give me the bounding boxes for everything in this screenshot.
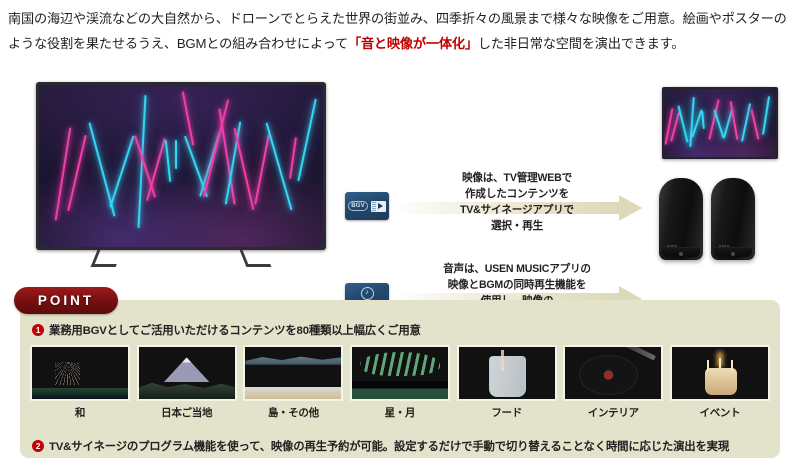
caption-line: TV&サイネージアプリで (398, 202, 636, 218)
thumbnail-caption: 日本ご当地 (137, 405, 237, 420)
list-item[interactable]: 星・月 (350, 345, 450, 425)
content-category-thumbnails: 和 日本ご当地 島・その他 星・月 フード インテリア イベント (30, 345, 770, 425)
intro-text-part2: した非日常な空間を演出できます。 (478, 36, 684, 51)
caption-line: 映像は、TV管理WEBで (398, 170, 636, 186)
list-item[interactable]: フード (457, 345, 557, 425)
caption-line: 選択・再生 (398, 218, 636, 234)
bgv-badge-label: BGV (348, 201, 368, 211)
flow-diagram: BGV ♪ USEN MUSIC 映像は、TV管理WEBで 作成したコンテンツを… (0, 78, 800, 276)
caption-line: 音声は、USEN MUSICアプリの (392, 261, 642, 277)
tv-preview-screen-neon-art (664, 89, 776, 157)
bgv-app-icon[interactable]: BGV (345, 192, 389, 220)
caption-line: 作成したコンテンツを (398, 186, 636, 202)
thumbnail-caption: 島・その他 (243, 405, 343, 420)
tv-stand-legs (36, 250, 326, 266)
tv-bezel (36, 82, 326, 250)
tv-leg-left (91, 250, 123, 267)
intro-paragraph: 南国の海辺や渓流などの大自然から、ドローンでとらえた世界の街並み、四季折々の風景… (8, 6, 792, 56)
tv-output-preview (662, 87, 778, 159)
speaker-left: usen (659, 178, 703, 260)
list-item[interactable]: 和 (30, 345, 130, 425)
point-item-1-text: 業務用BGVとしてご活用いただけるコンテンツを80種類以上幅広くご用意 (49, 322, 421, 338)
list-item[interactable]: 島・その他 (243, 345, 343, 425)
bgv-icon-row: BGV (348, 201, 386, 212)
tv-screen-neon-art (39, 85, 323, 247)
usen-speakers: usen usen (655, 178, 775, 266)
caption-line: 映像とBGMの同時再生機能を (392, 277, 642, 293)
thumbnail-image-japan-local (137, 345, 237, 401)
speaker-right: usen (711, 178, 755, 260)
list-item[interactable]: イベント (670, 345, 770, 425)
music-note-icon: ♪ (361, 287, 374, 300)
thumbnail-caption: インテリア (563, 405, 663, 420)
wall-tv-neon-content (36, 82, 326, 264)
speaker-indicator-icon (679, 252, 683, 256)
speaker-indicator-icon (731, 252, 735, 256)
intro-highlight: 「音と映像が一体化」 (348, 36, 478, 51)
play-icon (378, 203, 383, 209)
thumbnail-caption: イベント (670, 405, 770, 420)
thumbnail-image-event (670, 345, 770, 401)
thumbnail-caption: フード (457, 405, 557, 420)
flow-caption-video: 映像は、TV管理WEBで 作成したコンテンツを TV&サイネージアプリで 選択・… (398, 170, 636, 234)
thumbnail-image-interior (563, 345, 663, 401)
bgv-screen-icon (371, 201, 386, 212)
point-badge: POINT (14, 287, 118, 314)
thumbnail-caption: 和 (30, 405, 130, 420)
tv-leg-right (240, 250, 272, 267)
list-item[interactable]: インテリア (563, 345, 663, 425)
list-item[interactable]: 日本ご当地 (137, 345, 237, 425)
thumbnail-image-stars-moon (350, 345, 450, 401)
point-item-2-text: TV&サイネージのプログラム機能を使って、映像の再生予約が可能。設定するだけで手… (49, 438, 729, 454)
point-item-2: 2 TV&サイネージのプログラム機能を使って、映像の再生予約が可能。設定するだけ… (32, 438, 729, 454)
thumbnail-image-wa (30, 345, 130, 401)
list-number-1: 1 (32, 324, 44, 336)
thumbnail-caption: 星・月 (350, 405, 450, 420)
list-number-2: 2 (32, 440, 44, 452)
point-item-1: 1 業務用BGVとしてご活用いただけるコンテンツを80種類以上幅広くご用意 (32, 322, 421, 338)
thumbnail-image-island (243, 345, 343, 401)
thumbnail-image-food (457, 345, 557, 401)
